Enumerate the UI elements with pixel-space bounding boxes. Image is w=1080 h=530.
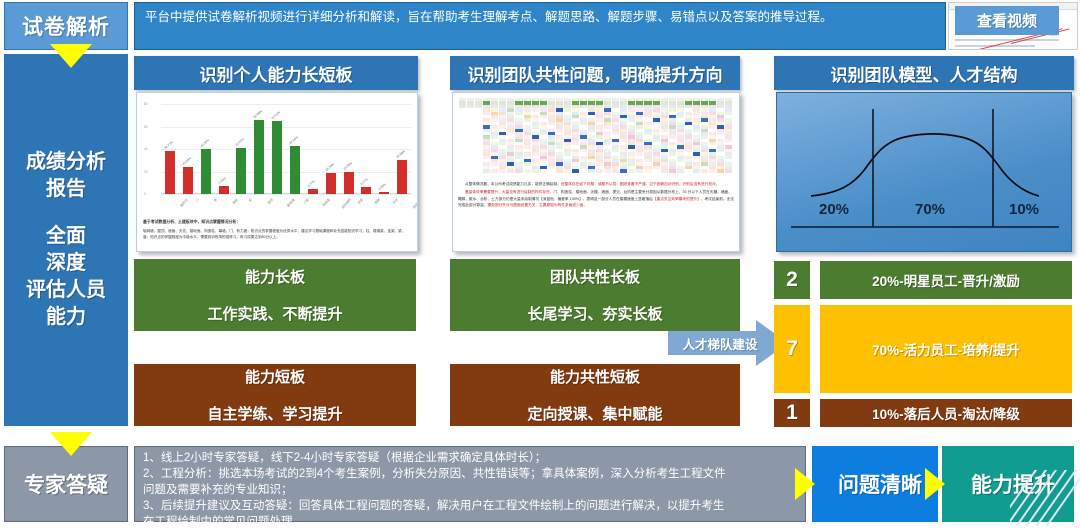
yellow-right-arrow-icon-2 — [925, 468, 945, 500]
x-axis-tick-label: 轴网/柱 — [178, 197, 189, 208]
spreadsheet-cell — [524, 169, 532, 172]
grid-line — [161, 194, 411, 195]
spreadsheet-cell — [677, 169, 685, 172]
expert-qa-line-3: 问题及需要补充的专业知识； — [143, 482, 797, 498]
x-axis-tick-label: 图纸输出 — [411, 197, 418, 210]
view-video-button-label: 查看视频 — [977, 10, 1037, 31]
bar — [165, 151, 175, 194]
spreadsheet-cell — [701, 169, 709, 172]
spreadsheet-cell — [548, 169, 556, 172]
pipeline-label: 人才梯队建设 — [672, 330, 768, 356]
bar — [361, 187, 371, 194]
bar — [219, 186, 229, 194]
spreadsheet-cell — [572, 169, 580, 172]
spreadsheet-cell — [725, 169, 733, 172]
spreadsheet-heatmap — [459, 98, 733, 178]
bell-curve-left-pct: 20% — [819, 201, 849, 218]
spreadsheet-cell — [717, 169, 725, 172]
talent-distribution-bell-curve-panel: 20% 70% 10% — [776, 92, 1072, 252]
column-header-team-model-label: 识别团队模型、人才结构 — [831, 61, 1018, 86]
y-axis-tick: 80 — [144, 102, 148, 106]
spreadsheet-cell — [685, 169, 693, 172]
sidebar-line-6: 能力 — [46, 304, 86, 331]
spreadsheet-cell — [604, 169, 612, 172]
bell-curve-right-pct: 10% — [1009, 201, 1039, 218]
expert-qa-line-5: 在工程绘制中的常见问题处理。 — [143, 514, 797, 530]
spreadsheet-cell — [596, 169, 604, 172]
block-individual-weakness-sub: 自主学练、学习提升 — [207, 403, 342, 424]
sheet-note-p2-red-c: 模型部分失分与图面设置无关、主要原因为构件多画或少画。 — [488, 203, 588, 207]
section-tag-exam-analysis: 试卷解析 — [4, 2, 128, 50]
column-header-individual-label: 识别个人能力长短板 — [200, 61, 353, 86]
column-header-team-issues-label: 识别团队共性问题，明确提升方向 — [468, 61, 723, 86]
grid-line — [161, 172, 411, 173]
team-issue-spreadsheet-panel: 从整体情况看，本公司考试成绩能力扎实，能修正确绘制，但整体存在如下问题：读题不认… — [452, 92, 740, 252]
y-axis-tick: 20 — [144, 170, 148, 174]
tier-number-star: 2 — [774, 261, 810, 299]
bar-value-label: 29.99% — [395, 149, 406, 159]
down-arrow-icon — [50, 44, 92, 68]
section-tag-label: 试卷解析 — [22, 11, 110, 41]
exam-analysis-description-text: 平台中提供试卷解析视频进行详细分析和解读，旨在帮助考生理解考点、解题思路、解题步… — [145, 10, 833, 24]
x-axis-tick-label: 房间面积 — [340, 197, 352, 210]
spreadsheet-cell — [483, 169, 491, 172]
spreadsheet-cell — [507, 169, 515, 172]
tier-number-lagging: 1 — [774, 399, 810, 427]
bar-value-label: 23.89% — [181, 156, 192, 166]
grid-line — [161, 127, 411, 128]
spreadsheet-cell — [661, 169, 669, 172]
block-individual-weakness-title: 能力短板 — [245, 366, 305, 387]
bar-chart: 02040608038.27%轴网/柱23.89%门40.35%墙7.26%楼板… — [137, 96, 418, 216]
bar — [379, 192, 389, 194]
grid-line — [161, 104, 411, 105]
pipeline-label-text: 人才梯队建设 — [682, 334, 757, 353]
block-team-weakness-sub: 定向授课、集中赋能 — [527, 403, 662, 424]
spreadsheet-cell — [620, 169, 628, 172]
bar-value-label: 40.35% — [199, 138, 210, 148]
bar-value-label: 66.09% — [253, 109, 264, 119]
bar — [236, 148, 246, 194]
spreadsheet-cell — [636, 169, 644, 172]
tier-label-star: 20%-明星员工-晋升/激励 — [820, 261, 1072, 299]
bar-value-label: 4.27% — [306, 179, 315, 188]
sheet-note-p2-red-a: 基量体效率需要提升，大量没有进行绘制的构件存在， — [465, 190, 554, 194]
bar-value-label: 42.64% — [288, 135, 299, 145]
bar — [397, 160, 407, 194]
decorative-stripes — [1010, 470, 1080, 526]
x-axis-tick-label: 幕墙/窗 — [285, 197, 296, 208]
spreadsheet-cell — [540, 169, 548, 172]
x-axis-tick-label: 门 — [194, 197, 200, 203]
bar — [272, 121, 282, 194]
y-axis-tick: 60 — [144, 125, 148, 129]
expert-qa-description: 1、线上2小时专家答疑，线下2-4小时专家答疑（根据企业需求确定具体时长）； 2… — [134, 446, 806, 522]
bar — [290, 146, 300, 194]
bar-value-label: 7.26% — [217, 176, 226, 185]
y-axis-tick: 0 — [144, 192, 146, 196]
team-issue-analysis-note: 从整体情况看，本公司考试成绩能力扎实，能修正确绘制，但整体存在如下问题：读题不认… — [458, 181, 734, 211]
expert-qa-line-2: 2、工程分析：挑选本场考试的2到4个考生案例，分析失分原因、共性错误等；拿具体案… — [143, 466, 797, 482]
block-individual-strength: 能力长板 工作实践、不断提升 — [134, 259, 416, 331]
x-axis-tick-label: 坡道 — [356, 197, 364, 205]
bar-value-label: 2.06% — [378, 182, 387, 191]
sidebar-line-3: 全面 — [46, 223, 86, 250]
bar — [308, 189, 318, 194]
spreadsheet-cell — [532, 169, 540, 172]
block-team-weakness-title: 能力共性短板 — [550, 366, 640, 387]
spreadsheet-cell — [475, 169, 483, 172]
tier-label-vital-text: 70%-活力员工-培养/提升 — [872, 339, 1020, 359]
tier-number-vital: 7 — [774, 305, 810, 393]
spreadsheet-cell — [580, 169, 588, 172]
column-header-team-issues: 识别团队共性问题，明确提升方向 — [450, 56, 740, 90]
sheet-note-p2-red-b: 【重点关注效率模块的提升】， — [653, 197, 705, 201]
block-team-weakness: 能力共性短板 定向授课、集中赋能 — [450, 364, 740, 426]
tier-number-lagging-value: 1 — [786, 401, 798, 425]
bar-value-label: 6.17% — [360, 177, 369, 186]
spreadsheet-cell — [491, 169, 499, 172]
spreadsheet-cell — [628, 169, 636, 172]
exam-analysis-description: 平台中提供试卷解析视频进行详细分析和解读，旨在帮助考生理解考点、解题思路、解题步… — [134, 2, 946, 50]
outcome-problem-clear: 问题清晰 — [812, 446, 938, 522]
bar — [344, 172, 354, 194]
spreadsheet-cell — [669, 169, 677, 172]
sidebar-line-1: 成绩分析 — [26, 149, 106, 176]
bell-curve-svg — [777, 93, 1072, 252]
outcome-problem-clear-label: 问题清晰 — [838, 469, 922, 499]
spreadsheet-cell — [564, 169, 572, 172]
tier-number-star-value: 2 — [786, 268, 798, 292]
x-axis-tick-label: 楼梯 — [373, 197, 381, 205]
x-axis-tick-label: 屋顶 — [266, 197, 274, 205]
spreadsheet-cell — [499, 169, 507, 172]
sheet-note-p1-red: 但整体存在如下问题：读题不认真、图纸查看不严谨、过于依赖自动识别、识别后没有进行… — [561, 182, 720, 186]
chart-analysis-note: 基于考试数据分析、土建板块中，知识点掌握情况分析： 轴网墙、屋顶、墙面、天花、楼… — [143, 219, 411, 240]
bar — [254, 120, 264, 194]
block-individual-weakness: 能力短板 自主学练、学习提升 — [134, 364, 416, 426]
bar-value-label: 41.07% — [235, 137, 246, 147]
x-axis-tick-label: 楼板 — [231, 197, 239, 205]
tier-number-vital-value: 7 — [786, 337, 798, 361]
individual-capability-chart-panel: 02040608038.27%轴网/柱23.89%门40.35%墙7.26%楼板… — [136, 92, 418, 252]
block-individual-strength-title: 能力长板 — [245, 266, 305, 287]
tier-label-lagging: 10%-落后人员-淘汰/降级 — [820, 399, 1072, 427]
chart-note-body: 轴网墙、屋顶、墙面、天花、楼地面、构造柱、幕墙、门、有力度：知识点的掌握程度为优… — [143, 229, 405, 239]
spreadsheet-cell — [588, 169, 596, 172]
bar-value-label: 64.51% — [270, 111, 281, 121]
spreadsheet-cell — [693, 169, 701, 172]
spreadsheet-cell — [709, 169, 717, 172]
section-tag-expert-qa-label: 专家答疑 — [24, 469, 108, 499]
spreadsheet-cell — [556, 169, 564, 172]
spreadsheet-row — [459, 169, 733, 172]
tier-label-lagging-text: 10%-落后人员-淘汰/降级 — [872, 403, 1020, 423]
chart-note-bold: 基于考试数据分析、土建板块中，知识点掌握情况分析： — [143, 219, 411, 225]
y-axis-tick: 40 — [144, 147, 148, 151]
sidebar-line-2: 报告 — [46, 176, 86, 203]
block-team-strength-title: 团队共性长板 — [550, 266, 640, 287]
sidebar-score-analysis-report: 成绩分析 报告 全面 深度 评估人员 能力 — [4, 54, 128, 426]
spreadsheet-cell — [515, 169, 523, 172]
bar — [183, 167, 193, 194]
bar — [201, 149, 211, 194]
sidebar-line-4: 深度 — [46, 250, 86, 277]
x-axis-tick-label: 梁 — [247, 197, 253, 203]
block-team-strength-sub: 长尾学习、夯实长板 — [527, 303, 662, 324]
spreadsheet-cell — [467, 169, 475, 172]
expert-qa-line-4: 3、后续提升建议及互动答疑：回答具体工程问题的答疑，解决用户在工程文件绘制上的问… — [143, 498, 797, 514]
spreadsheet-cell — [644, 169, 652, 172]
x-axis-tick-label: 门窗 — [302, 197, 310, 205]
spreadsheet-cell — [459, 169, 467, 172]
x-axis — [161, 193, 411, 194]
bell-curve-mid-pct: 70% — [915, 201, 945, 218]
section-tag-expert-qa: 专家答疑 — [4, 446, 128, 522]
sheet-note-p1-plain: 从整体情况看，本公司考试成绩能力扎实，能修正确绘制， — [465, 182, 561, 186]
spreadsheet-cell — [612, 169, 620, 172]
down-arrow-icon-bottom — [50, 432, 92, 456]
slide-root: 试卷解析 平台中提供试卷解析视频进行详细分析和解读，旨在帮助考生理解考点、解题思… — [0, 0, 1080, 526]
x-axis-tick-label: 墙 — [212, 197, 218, 203]
expert-qa-line-1: 1、线上2小时专家答疑，线下2-4小时专家答疑（根据企业需求确定具体时长）； — [143, 450, 797, 466]
block-individual-strength-sub: 工作实践、不断提升 — [207, 303, 342, 324]
x-axis-tick-label: 场地 — [391, 197, 399, 205]
yellow-right-arrow-icon-1 — [795, 468, 815, 500]
x-axis-tick-label: 明细表 — [321, 197, 331, 207]
spreadsheet-cell — [653, 169, 661, 172]
tier-label-star-text: 20%-明星员工-晋升/激励 — [872, 270, 1020, 290]
bar-value-label: 19.28% — [342, 161, 353, 171]
grid-line — [161, 149, 411, 150]
view-video-button[interactable]: 查看视频 — [955, 6, 1059, 35]
column-header-individual: 识别个人能力长短板 — [134, 56, 418, 90]
sidebar-line-5: 评估人员 — [26, 277, 106, 304]
column-header-team-model: 识别团队模型、人才结构 — [774, 56, 1074, 90]
tier-label-vital: 70%-活力员工-培养/提升 — [820, 305, 1072, 393]
bar — [326, 173, 336, 194]
